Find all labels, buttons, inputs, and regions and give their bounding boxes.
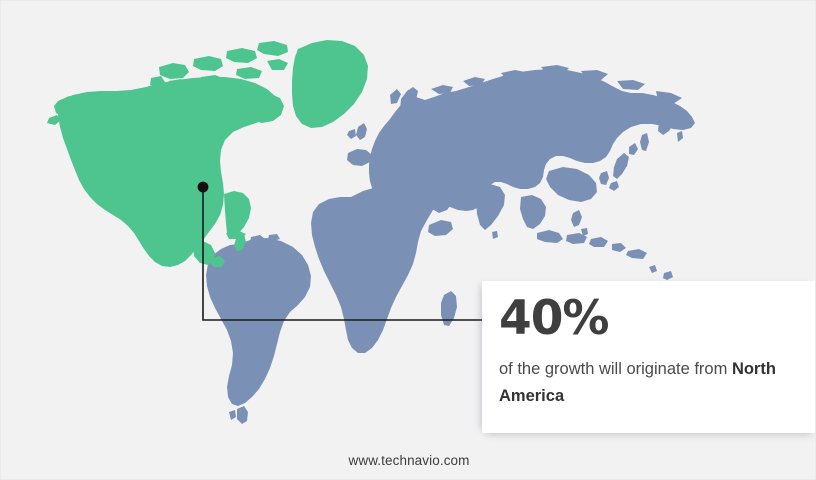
infographic-canvas: 40% of the growth will originate from No…: [0, 0, 816, 480]
stat-description: of the growth will originate from North …: [499, 356, 789, 409]
callout-content: 40% of the growth will originate from No…: [482, 281, 816, 409]
callout-card: 40% of the growth will originate from No…: [482, 281, 816, 433]
stat-value: 40%: [499, 295, 816, 344]
stat-description-prefix: of the growth will originate from: [499, 360, 732, 378]
footer-source: www.technavio.com: [1, 453, 816, 468]
